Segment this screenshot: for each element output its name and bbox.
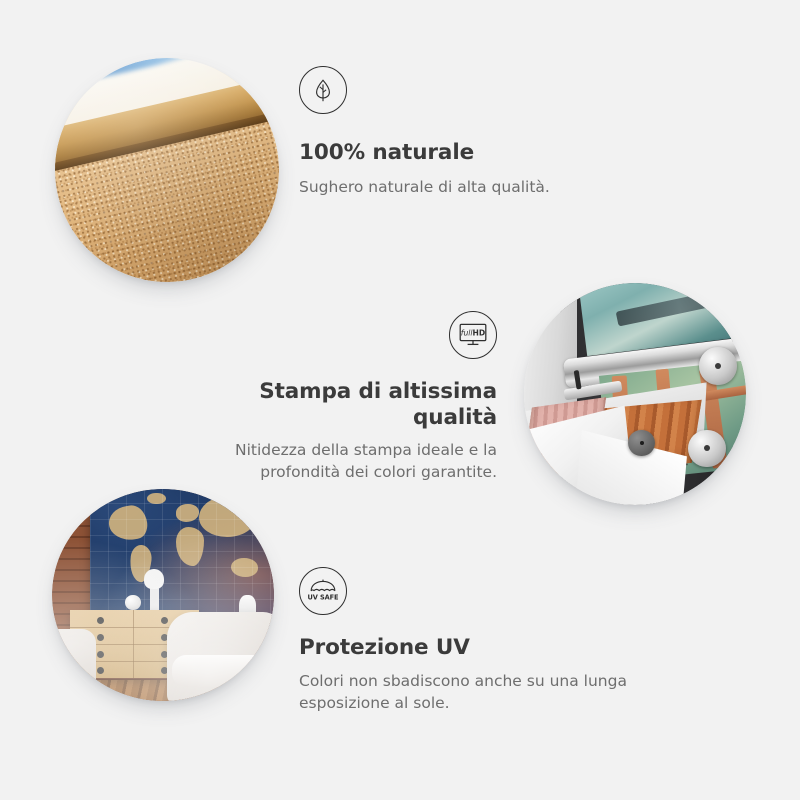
- leaf-icon: [299, 66, 347, 114]
- feature-block-uv: UV SAFE Protezione UV Colori non sbadisc…: [299, 567, 669, 714]
- feature-description-uv-line1: Colori non sbadiscono anche su una lunga: [299, 672, 627, 690]
- feature-block-natural: 100% naturale Sughero naturale di alta q…: [299, 66, 629, 198]
- room-world-map-photo: [52, 489, 274, 701]
- room-photo-inner: [52, 489, 274, 701]
- feature-description-uv: Colori non sbadiscono anche su una lunga…: [299, 670, 669, 714]
- printer-photo-inner: [524, 283, 746, 505]
- feature-title-print: Stampa di altissima qualità: [195, 379, 497, 431]
- printer-roller-knob: [688, 430, 726, 468]
- feature-title-natural: 100% naturale: [299, 140, 629, 166]
- printing-machine-photo: [524, 283, 746, 505]
- feature-description-uv-line2: esposizione al sole.: [299, 694, 450, 712]
- feature-title-uv: Protezione UV: [299, 635, 669, 661]
- feature-description-natural: Sughero naturale di alta qualità.: [299, 176, 629, 198]
- printer-roller-knob: [699, 347, 737, 385]
- feature-description-print: Nitidezza della stampa ideale e la profo…: [195, 439, 497, 483]
- feature-block-print: fullHD Stampa di altissima qualità Nitid…: [195, 311, 497, 483]
- cork-texture-photo: [55, 58, 279, 282]
- svg-text:fullHD: fullHD: [461, 328, 485, 337]
- svg-text:UV SAFE: UV SAFE: [308, 594, 339, 602]
- feature-showcase-page: 100% naturale Sughero naturale di alta q…: [0, 0, 800, 800]
- feature-description-print-line1: Nitidezza della stampa ideale e la: [235, 441, 497, 459]
- uv-safe-umbrella-icon: UV SAFE: [299, 567, 347, 615]
- feature-description-print-line2: profondità dei colori garantite.: [260, 463, 497, 481]
- printer-roller-knob: [628, 430, 655, 457]
- photo-light-overlay: [52, 489, 274, 701]
- cork-shading-overlay: [55, 58, 279, 282]
- fullhd-monitor-icon: fullHD: [449, 311, 497, 359]
- cork-photo-inner: [55, 58, 279, 282]
